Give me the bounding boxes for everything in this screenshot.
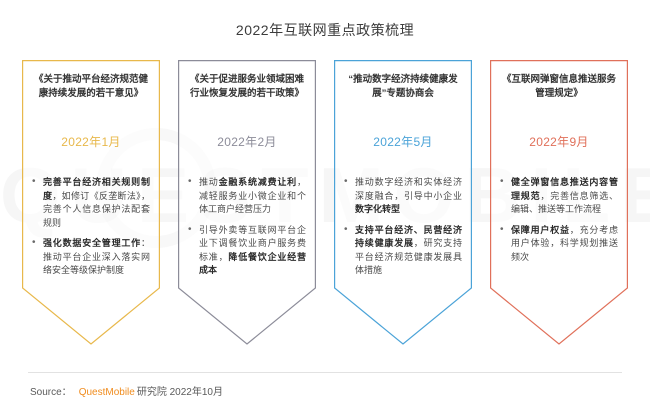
policy-bullet: 健全弹窗信息推送内容管理规范，完善信息筛选、编辑、推送等工作流程 [500,176,618,217]
source-brand: QuestMobile [79,387,135,398]
footer-divider [28,372,622,373]
bullet-emphasis: 金融系统减费让利 [219,177,297,187]
source-suffix: 研究院 2022年10月 [137,387,223,398]
policy-column-2: 《关于促进服务业领域困难行业恢复发展的若干政策》2022年2月推动金融系统减费让… [178,60,316,350]
bullet-lead: 推动 [199,177,219,187]
policy-column-4: 《互联网弹窗信息推送服务管理规定》2022年9月健全弹窗信息推送内容管理规范，完… [490,60,628,350]
source-label: Source： [30,387,72,398]
policy-column-content: 《互联网弹窗信息推送服务管理规定》2022年9月健全弹窗信息推送内容管理规范，完… [490,60,628,264]
policy-bullet-list: 完善平台经济相关规则制度，如修订《反垄断法》，完善个人信息保护法配套规则强化数据… [32,176,150,278]
policy-date: 2022年2月 [188,133,306,150]
policy-bullet: 完善平台经济相关规则制度，如修订《反垄断法》，完善个人信息保护法配套规则 [32,176,150,230]
policy-columns: 《关于推动平台经济规范健康持续发展的若干意见》2022年1月完善平台经济相关规则… [22,60,628,350]
bullet-emphasis: 强化数据安全管理工作 [43,238,141,248]
bullet-lead: 推动数字经济和实体经济深度融合，引导中小企业 [355,177,462,201]
policy-date: 2022年1月 [32,133,150,150]
policy-column-content: 《关于推动平台经济规范健康持续发展的若干意见》2022年1月完善平台经济相关规则… [22,60,160,278]
policy-column-3: “推动数字经济持续健康发展”专题协商会2022年5月推动数字经济和实体经济深度融… [334,60,472,350]
policy-bullet: 保障用户权益，充分考虑用户体验，科学规划推送频次 [500,224,618,265]
policy-date: 2022年9月 [500,133,618,150]
policy-title: 《关于推动平台经济规范健康持续发展的若干意见》 [32,73,150,117]
policy-bullet-list: 推动金融系统减费让利，减轻服务业小微企业和个体工商户经营压力引导外卖等互联网平台… [188,176,306,278]
policy-date: 2022年5月 [344,133,462,150]
bullet-rest: ，如修订《反垄断法》，完善个人信息保护法配套规则 [43,191,150,228]
bullet-emphasis: 数字化转型 [355,204,400,214]
policy-title: 《互联网弹窗信息推送服务管理规定》 [500,73,618,117]
policy-bullet: 推动金融系统减费让利，减轻服务业小微企业和个体工商户经营压力 [188,176,306,217]
policy-column-content: “推动数字经济持续健康发展”专题协商会2022年5月推动数字经济和实体经济深度融… [334,60,472,278]
policy-column-1: 《关于推动平台经济规范健康持续发展的若干意见》2022年1月完善平台经济相关规则… [22,60,160,350]
policy-bullet: 引导外卖等互联网平台企业下调餐饮业商户服务费标准，降低餐饮企业经营成本 [188,224,306,278]
policy-bullet: 支持平台经济、民营经济持续健康发展，研究支持平台经济规范健康发展具体措施 [344,224,462,278]
page-title: 2022年互联网重点政策梳理 [0,20,650,40]
policy-bullet: 推动数字经济和实体经济深度融合，引导中小企业数字化转型 [344,176,462,217]
policy-bullet-list: 健全弹窗信息推送内容管理规范，完善信息筛选、编辑、推送等工作流程保障用户权益，充… [500,176,618,264]
policy-column-content: 《关于促进服务业领域困难行业恢复发展的若干政策》2022年2月推动金融系统减费让… [178,60,316,278]
policy-bullet-list: 推动数字经济和实体经济深度融合，引导中小企业数字化转型支持平台经济、民营经济持续… [344,176,462,278]
policy-bullet: 强化数据安全管理工作：推动平台企业深入落实网络安全等级保护制度 [32,237,150,278]
source-note: Source：QuestMobile研究院 2022年10月 [30,383,223,398]
bullet-emphasis: 保障用户权益 [511,225,570,235]
policy-title: “推动数字经济持续健康发展”专题协商会 [344,73,462,117]
policy-title: 《关于促进服务业领域困难行业恢复发展的若干政策》 [188,73,306,117]
